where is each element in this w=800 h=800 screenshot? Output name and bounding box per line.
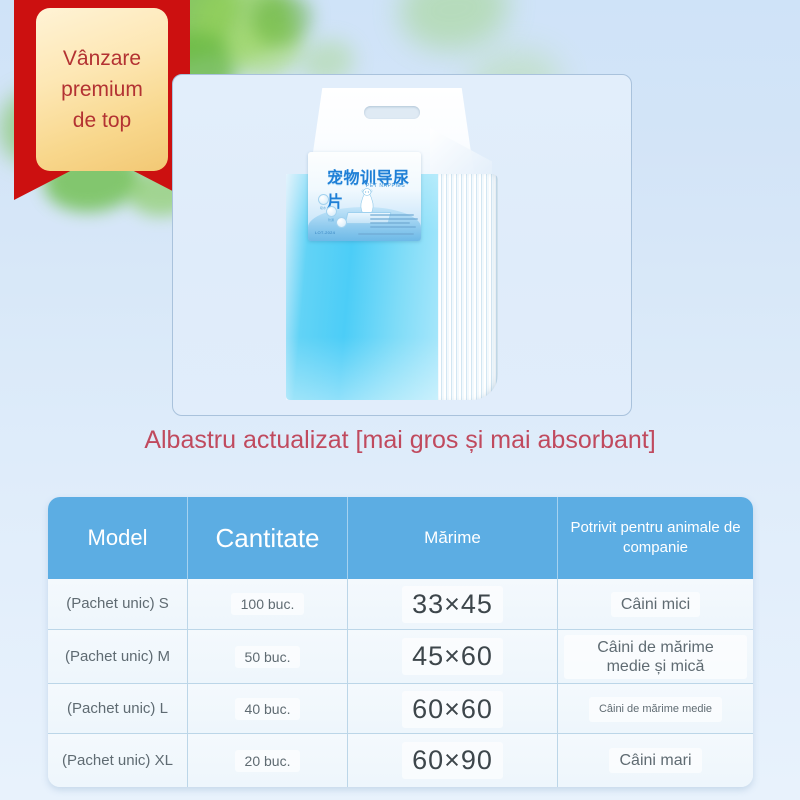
table-header: Model Cantitate Mărime Potrivit pentru a… — [48, 497, 753, 579]
product-caption: Albastru actualizat [mai gros și mai abs… — [100, 424, 700, 457]
product-detail-page: Vânzare premium de top 宠物训导尿片 PET NAPPIE… — [0, 0, 800, 800]
quantity-value: 20 buc. — [235, 750, 301, 772]
column-header-model: Model — [48, 497, 188, 579]
table-row: (Pachet unic) M 50 buc. 45×60 Câini de m… — [48, 629, 753, 683]
size-value: 60×60 — [402, 691, 503, 728]
label-badge-text-1: 吸水 — [313, 206, 333, 210]
pets-value: Câini de mărime medie și mică — [564, 635, 747, 679]
badge-line-3: de top — [73, 105, 131, 136]
cell-suitable-pets: Câini de mărime medie — [558, 684, 753, 734]
label-lot-code: LOT-2024 — [315, 230, 335, 235]
size-value: 45×60 — [402, 638, 503, 675]
table-row: (Pachet unic) L 40 buc. 60×60 Câini de m… — [48, 683, 753, 733]
column-header-quantity: Cantitate — [188, 497, 348, 579]
quantity-value: 100 buc. — [231, 593, 305, 615]
package-label: 宠物训导尿片 PET NAPPIES 吸水 防漏 — [308, 152, 421, 241]
quantity-value: 40 buc. — [235, 698, 301, 720]
size-value: 33×45 — [402, 586, 503, 623]
table-body: (Pachet unic) S 100 buc. 33×45 Câini mic… — [48, 579, 753, 787]
table-row: (Pachet unic) S 100 buc. 33×45 Câini mic… — [48, 579, 753, 629]
cell-size: 60×60 — [348, 684, 558, 734]
column-header-suitable-pets: Potrivit pentru animale de companie — [558, 497, 753, 579]
pets-value: Câini mici — [611, 592, 700, 617]
product-package: 宠物训导尿片 PET NAPPIES 吸水 防漏 — [286, 88, 498, 400]
cell-size: 60×90 — [348, 734, 558, 787]
cell-size: 33×45 — [348, 579, 558, 629]
cell-quantity: 20 buc. — [188, 734, 348, 787]
cell-quantity: 40 buc. — [188, 684, 348, 734]
badge-line-2: premium — [61, 74, 143, 105]
cell-suitable-pets: Câini de mărime medie și mică — [558, 630, 753, 683]
pets-value: Câini mari — [609, 748, 701, 773]
cell-suitable-pets: Câini mici — [558, 579, 753, 629]
product-image-panel: 宠物训导尿片 PET NAPPIES 吸水 防漏 — [172, 74, 632, 416]
pad-stack-edges — [434, 174, 498, 400]
cell-model: (Pachet unic) XL — [48, 734, 188, 787]
premium-sale-badge-panel: Vânzare premium de top — [36, 8, 168, 171]
label-badge-text-2: 防漏 — [321, 218, 341, 222]
package-handle-slot — [364, 106, 420, 119]
quantity-value: 50 buc. — [235, 646, 301, 668]
cell-model: (Pachet unic) S — [48, 579, 188, 629]
cell-quantity: 50 buc. — [188, 630, 348, 683]
cell-quantity: 100 buc. — [188, 579, 348, 629]
pets-value: Câini de mărime medie — [589, 697, 722, 722]
table-row: (Pachet unic) XL 20 buc. 60×90 Câini mar… — [48, 733, 753, 787]
cell-suitable-pets: Câini mari — [558, 734, 753, 787]
size-value: 60×90 — [402, 742, 503, 779]
label-feature-badge-1 — [318, 194, 329, 205]
cell-size: 45×60 — [348, 630, 558, 683]
cell-model: (Pachet unic) L — [48, 684, 188, 734]
column-header-size: Mărime — [348, 497, 558, 579]
specification-table: Model Cantitate Mărime Potrivit pentru a… — [48, 497, 753, 787]
badge-line-1: Vânzare — [63, 43, 141, 74]
cell-model: (Pachet unic) M — [48, 630, 188, 683]
